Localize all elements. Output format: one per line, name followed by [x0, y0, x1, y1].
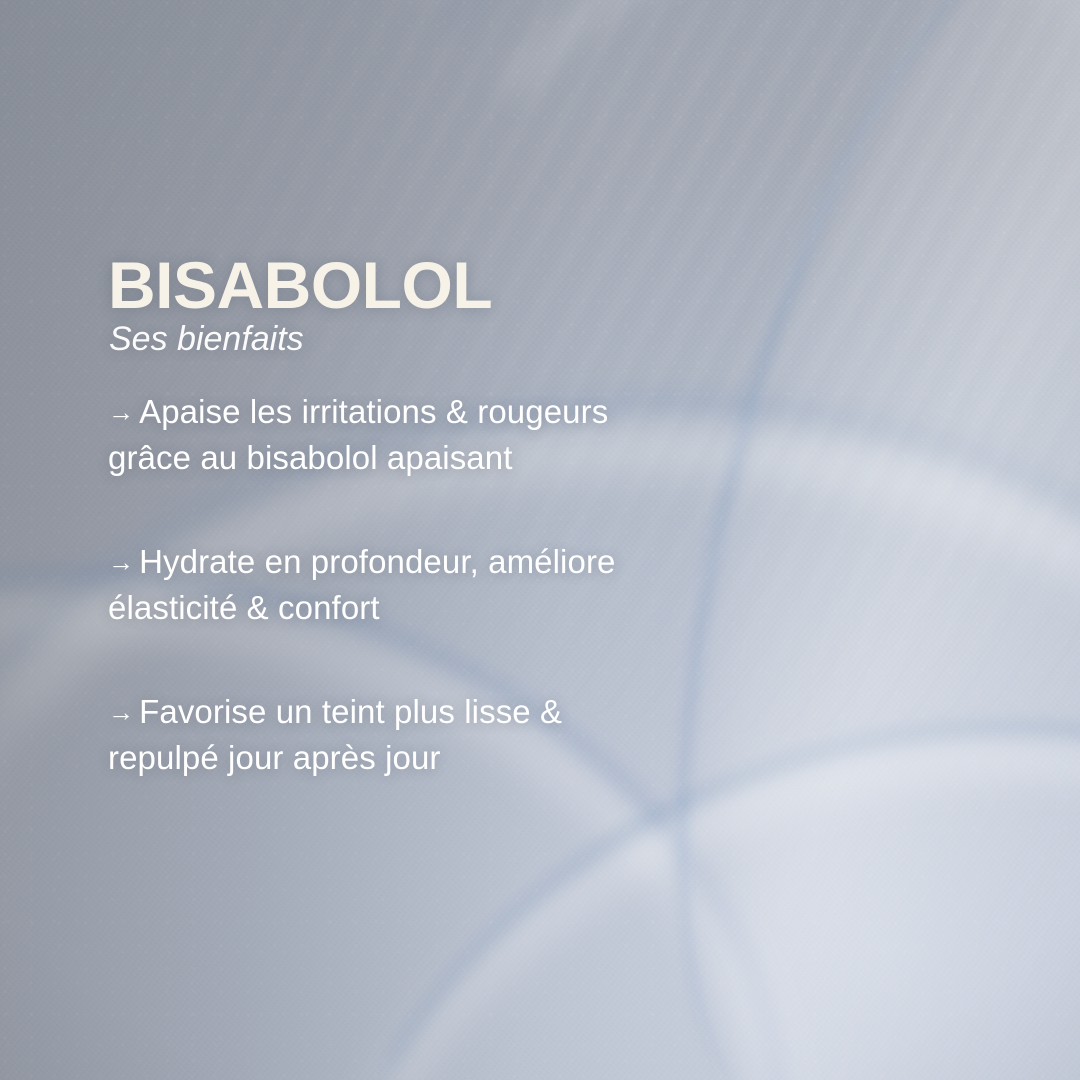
benefits-list: →Apaise les irritations & rougeurs grâce… — [108, 389, 828, 781]
benefit-text: Hydrate en profondeur, améliore élastici… — [108, 543, 616, 626]
page-subtitle: Ses bienfaits — [109, 320, 828, 359]
arrow-right-icon: → — [108, 697, 139, 727]
benefit-text: Apaise les irritations & rougeurs grâce … — [108, 393, 608, 476]
ingredient-benefits-card: BISABOLOL Ses bienfaits →Apaise les irri… — [0, 0, 1080, 1080]
page-title: BISABOLOL — [108, 252, 828, 318]
text-block: BISABOLOL Ses bienfaits →Apaise les irri… — [108, 252, 828, 781]
benefit-item: →Apaise les irritations & rougeurs grâce… — [108, 389, 668, 481]
benefit-item: →Favorise un teint plus lisse & repulpé … — [108, 689, 668, 781]
benefit-text: Favorise un teint plus lisse & repulpé j… — [108, 693, 562, 776]
arrow-right-icon: → — [108, 397, 139, 427]
arrow-right-icon: → — [108, 547, 139, 577]
benefit-item: →Hydrate en profondeur, améliore élastic… — [108, 539, 668, 631]
